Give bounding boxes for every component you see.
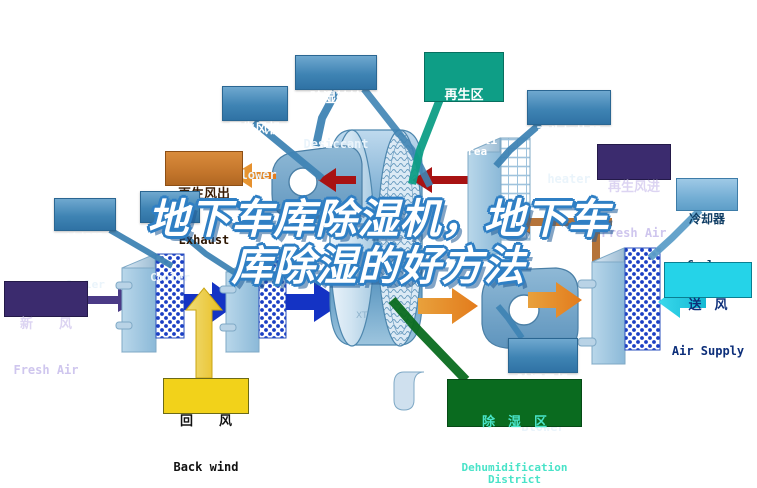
label-regen-fresh-air-in-cn: 再生风进 xyxy=(598,180,670,194)
label-desiccant-wheel[interactable]: 除湿转轮 Desiccant xyxy=(295,55,377,90)
label-regen-blower-cn: 再生风机 xyxy=(223,122,287,136)
label-back-wind-en: Back wind xyxy=(164,461,248,473)
label-dehum-blower[interactable]: 除湿风机 Blower xyxy=(508,338,578,373)
label-dehumidification-district-cn: 除 湿 区 xyxy=(448,415,581,429)
page-title-line1: 地下车库除湿机，地下车 xyxy=(0,196,757,243)
page-title: 地下车库除湿机，地下车 库除湿的好方法 xyxy=(0,196,757,290)
flow-dry-air-out-of-wheel xyxy=(418,288,478,324)
label-regeneration-area[interactable]: 再生区 Regenerati on Area xyxy=(424,52,504,102)
page-title-line2: 库除湿的好方法 xyxy=(0,243,757,290)
label-desiccant-wheel-en: Desiccant xyxy=(296,138,376,150)
label-air-supply-cn: 送 风 xyxy=(665,298,751,312)
svg-text:XT: XT xyxy=(356,311,368,321)
label-back-wind-cn: 回 风 xyxy=(164,414,248,428)
label-regeneration-area-en: Regenerati on Area xyxy=(425,135,503,157)
label-exhaust[interactable]: 再生风出 Exhaust xyxy=(165,151,243,186)
label-air-supply-en: Air Supply xyxy=(665,345,751,357)
label-regen-heater-cn: 再生加热器 xyxy=(528,126,610,140)
dehumidifier-schematic-image: XT xyxy=(0,0,757,488)
label-fresh-air-in-cn: 新 风 xyxy=(5,317,87,331)
label-dehumidification-district[interactable]: 除 湿 区 Dehumidification District xyxy=(447,379,582,427)
label-regen-blower[interactable]: 再生风机 Blower xyxy=(222,86,288,121)
label-fresh-air-in-en: Fresh Air xyxy=(5,364,87,376)
label-regeneration-area-cn: 再生区 xyxy=(425,88,503,102)
label-regen-fresh-air-in[interactable]: 再生风进 Fresh Air xyxy=(597,144,671,180)
label-desiccant-wheel-cn: 除湿转轮 xyxy=(296,91,376,105)
label-regen-heater[interactable]: 再生加热器 heater xyxy=(527,90,611,125)
label-back-wind[interactable]: 回 风 Back wind xyxy=(163,378,249,414)
label-dehumidification-district-en: Dehumidification District xyxy=(448,462,581,485)
